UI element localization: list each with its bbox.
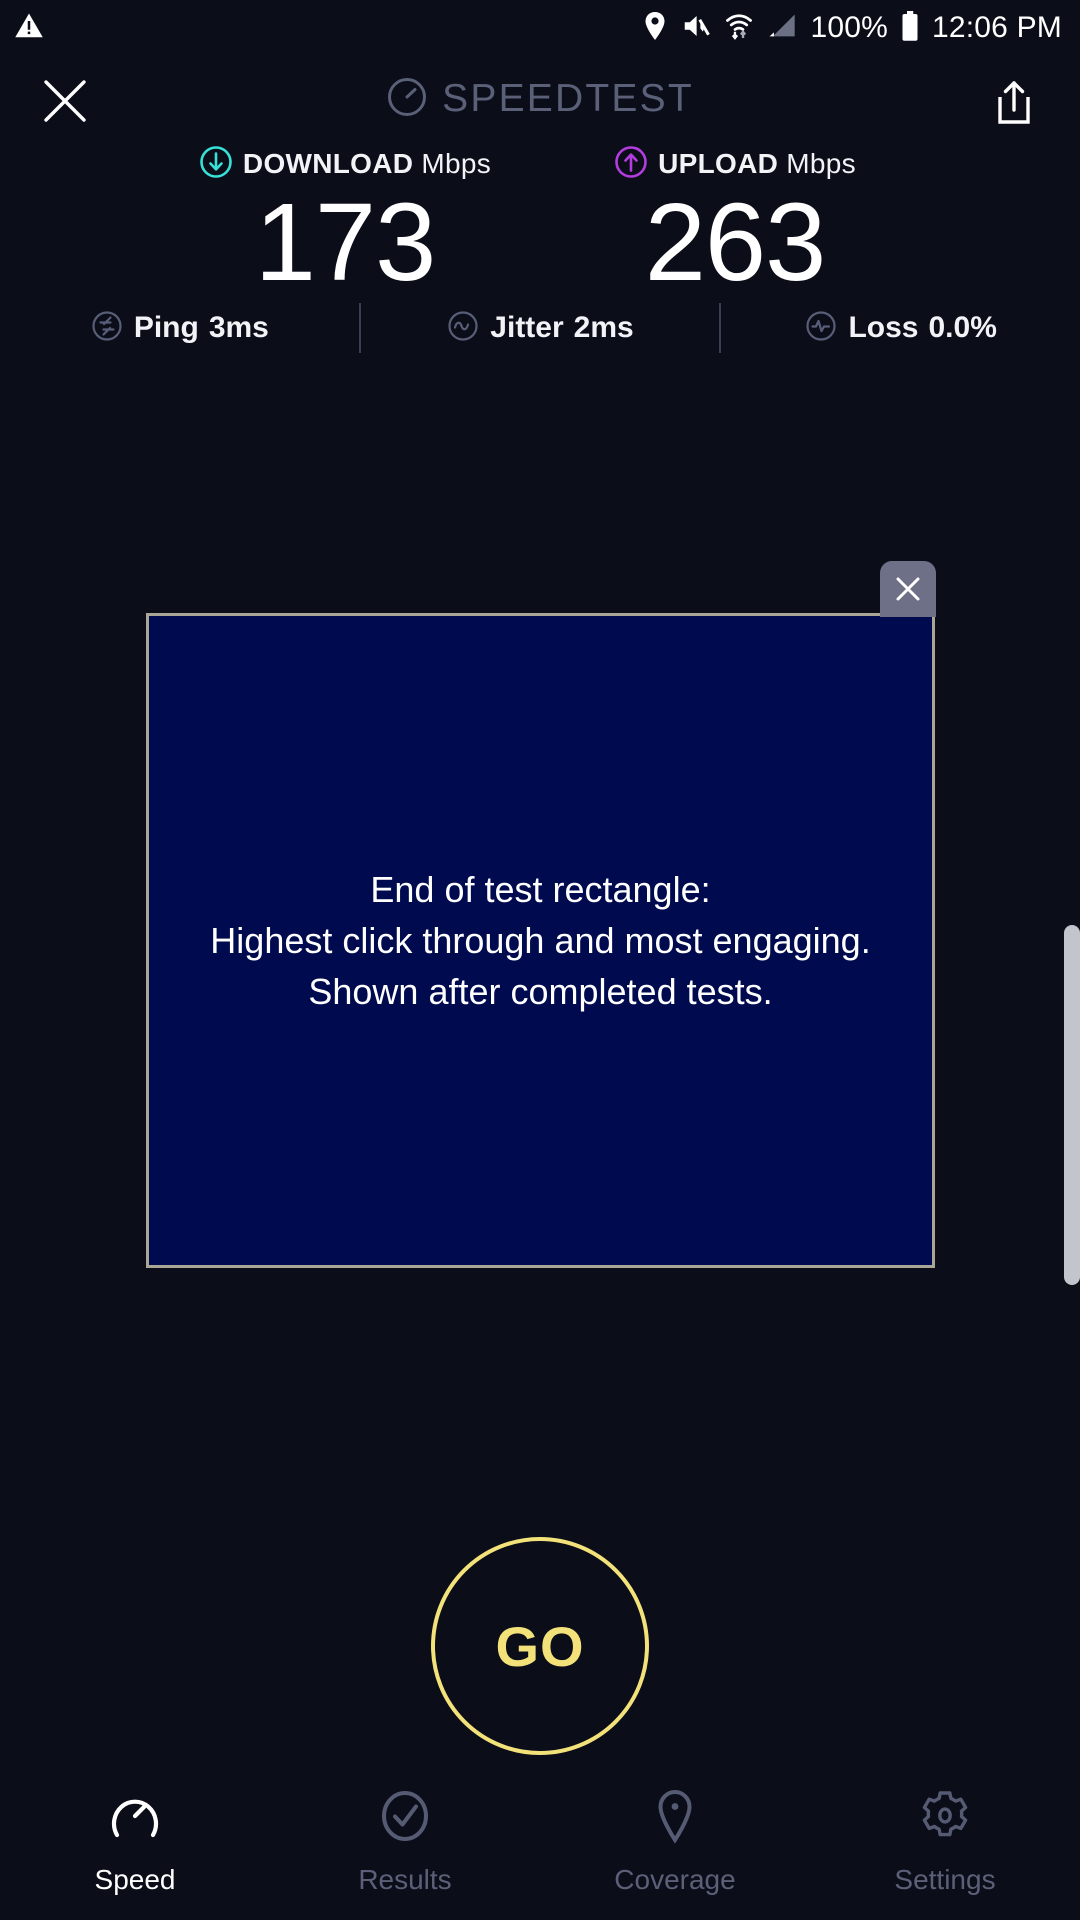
- brand-title: SPEEDTEST: [442, 77, 694, 121]
- wifi-icon: [724, 11, 754, 46]
- download-header: DOWNLOAD Mbps: [155, 142, 535, 186]
- nav-label-settings: Settings: [894, 1864, 995, 1896]
- metric-ping: Ping 3ms: [0, 309, 359, 348]
- share-button[interactable]: [984, 72, 1044, 134]
- location-pin-icon: [642, 11, 668, 46]
- loss-icon: [804, 309, 838, 348]
- battery-percent-label: 100%: [810, 13, 888, 43]
- upload-result: UPLOAD Mbps 263: [545, 142, 925, 293]
- status-bar-right: 100% 12:06 PM: [642, 11, 1062, 46]
- download-result: DOWNLOAD Mbps 173: [155, 142, 535, 293]
- speed-values-row: DOWNLOAD Mbps 173 UPLOAD Mbps 263: [0, 142, 1080, 293]
- metric-loss: Loss 0.0%: [721, 309, 1080, 348]
- ad-line: Highest click through and most engaging.: [210, 915, 870, 966]
- upload-arrow-icon: [614, 145, 648, 184]
- metrics-row: Ping 3ms Jitter 2ms Loss 0.0%: [0, 298, 1080, 358]
- check-circle-icon: [376, 1787, 434, 1850]
- battery-full-icon: [901, 11, 919, 46]
- ad-line: End of test rectangle:: [210, 864, 870, 915]
- results-panel: DOWNLOAD Mbps 173 UPLOAD Mbps 263: [0, 142, 1080, 293]
- speedtest-app-screen: 100% 12:06 PM SPEEDTEST: [0, 0, 1080, 1920]
- metric-jitter: Jitter 2ms: [361, 309, 720, 348]
- scrollbar-thumb[interactable]: [1064, 925, 1080, 1285]
- metric-loss-value: 0.0%: [929, 311, 997, 345]
- upload-value: 263: [545, 192, 925, 293]
- share-icon: [993, 80, 1035, 126]
- download-value: 173: [155, 192, 535, 293]
- nav-item-settings[interactable]: Settings: [810, 1787, 1080, 1896]
- go-button-wrapper: GO: [431, 1537, 649, 1755]
- location-pin-icon: [646, 1787, 704, 1850]
- nav-item-results[interactable]: Results: [270, 1787, 540, 1896]
- nav-item-coverage[interactable]: Coverage: [540, 1787, 810, 1896]
- clock-label: 12:06 PM: [932, 13, 1062, 43]
- go-button-label: GO: [495, 1614, 584, 1679]
- warning-triangle-icon: [14, 11, 44, 46]
- metric-ping-label: Ping: [134, 311, 199, 345]
- nav-label-speed: Speed: [95, 1864, 176, 1896]
- ad-close-button[interactable]: [880, 561, 936, 617]
- upload-header: UPLOAD Mbps: [545, 142, 925, 186]
- metric-ping-value: 3ms: [209, 311, 269, 345]
- go-button[interactable]: GO: [431, 1537, 649, 1755]
- jitter-icon: [446, 309, 480, 348]
- brand-logo: SPEEDTEST: [0, 56, 1080, 142]
- nav-item-speed[interactable]: Speed: [0, 1787, 270, 1896]
- upload-label: UPLOAD Mbps: [658, 148, 856, 180]
- metric-jitter-value: 2ms: [574, 311, 634, 345]
- app-header: SPEEDTEST: [0, 56, 1080, 142]
- nav-label-coverage: Coverage: [614, 1864, 735, 1896]
- ping-icon: [90, 309, 124, 348]
- cell-signal-icon: [767, 12, 797, 45]
- status-bar-left: [14, 11, 44, 46]
- bottom-navigation-bar: Speed Results Coverage: [0, 1775, 1080, 1920]
- ad-close-icon: [891, 572, 925, 606]
- metric-loss-label: Loss: [848, 311, 918, 345]
- ad-text: End of test rectangle: Highest click thr…: [196, 864, 884, 1017]
- ad-line: Shown after completed tests.: [210, 966, 870, 1017]
- status-bar: 100% 12:06 PM: [0, 0, 1080, 56]
- nav-label-results: Results: [358, 1864, 451, 1896]
- advertisement-banner[interactable]: End of test rectangle: Highest click thr…: [146, 613, 935, 1268]
- speedometer-icon: [106, 1787, 164, 1850]
- speedometer-icon: [386, 76, 428, 123]
- download-arrow-icon: [199, 145, 233, 184]
- gear-icon: [916, 1787, 974, 1850]
- download-label: DOWNLOAD Mbps: [243, 148, 491, 180]
- mute-icon: [681, 11, 711, 46]
- metric-jitter-label: Jitter: [490, 311, 563, 345]
